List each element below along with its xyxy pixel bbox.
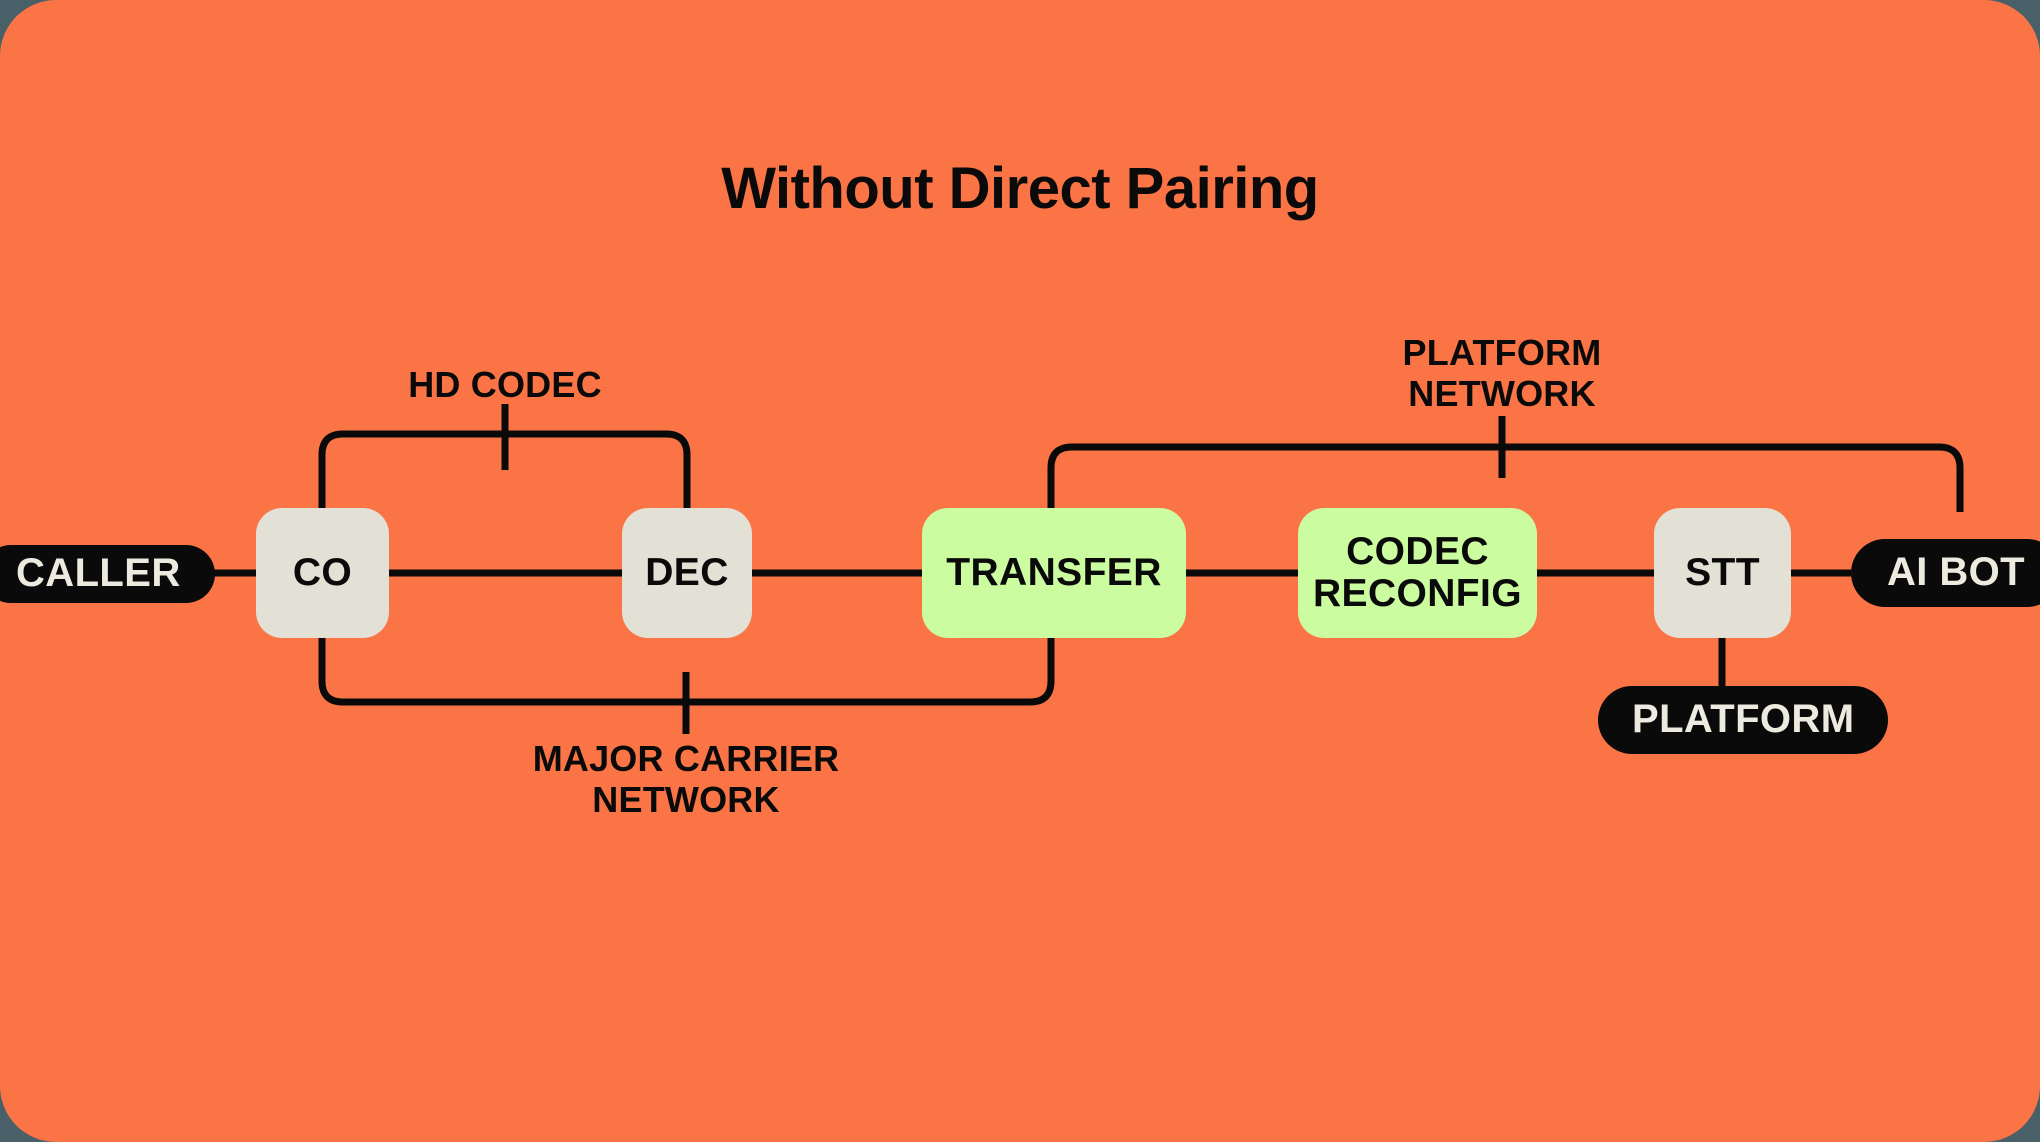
page-title: Without Direct Pairing: [0, 155, 2040, 222]
bracket-label-major-carrier-network: MAJOR CARRIER NETWORK: [486, 738, 886, 821]
node-ai-bot[interactable]: AI BOT: [1851, 539, 2040, 607]
node-codec-reconfig[interactable]: CODEC RECONFIG: [1298, 508, 1537, 638]
node-stt-label: STT: [1685, 552, 1760, 594]
node-platform-label: PLATFORM: [1632, 698, 1854, 741]
node-co-label: CO: [293, 552, 352, 594]
node-dec[interactable]: DEC: [622, 508, 752, 638]
node-transfer-label: TRANSFER: [946, 552, 1162, 594]
node-co[interactable]: CO: [256, 508, 389, 638]
bracket-label-platform-network: PLATFORM NETWORK: [1302, 332, 1702, 415]
node-dec-label: DEC: [645, 552, 729, 594]
node-caller[interactable]: CALLER: [0, 545, 215, 603]
bracket-platform-network: [1051, 447, 1960, 512]
node-transfer[interactable]: TRANSFER: [922, 508, 1186, 638]
bracket-major-carrier: [322, 634, 1051, 702]
node-platform[interactable]: PLATFORM: [1598, 686, 1888, 754]
node-stt[interactable]: STT: [1654, 508, 1791, 638]
bracket-hd-codec: [322, 434, 687, 514]
node-ai-bot-label: AI BOT: [1887, 551, 2025, 594]
bracket-label-hd-codec: HD CODEC: [355, 364, 655, 405]
node-codec-reconfig-label: CODEC RECONFIG: [1298, 531, 1537, 615]
node-caller-label: CALLER: [16, 552, 181, 595]
diagram-canvas: Without Direct Pairing CAL: [0, 0, 2040, 1142]
